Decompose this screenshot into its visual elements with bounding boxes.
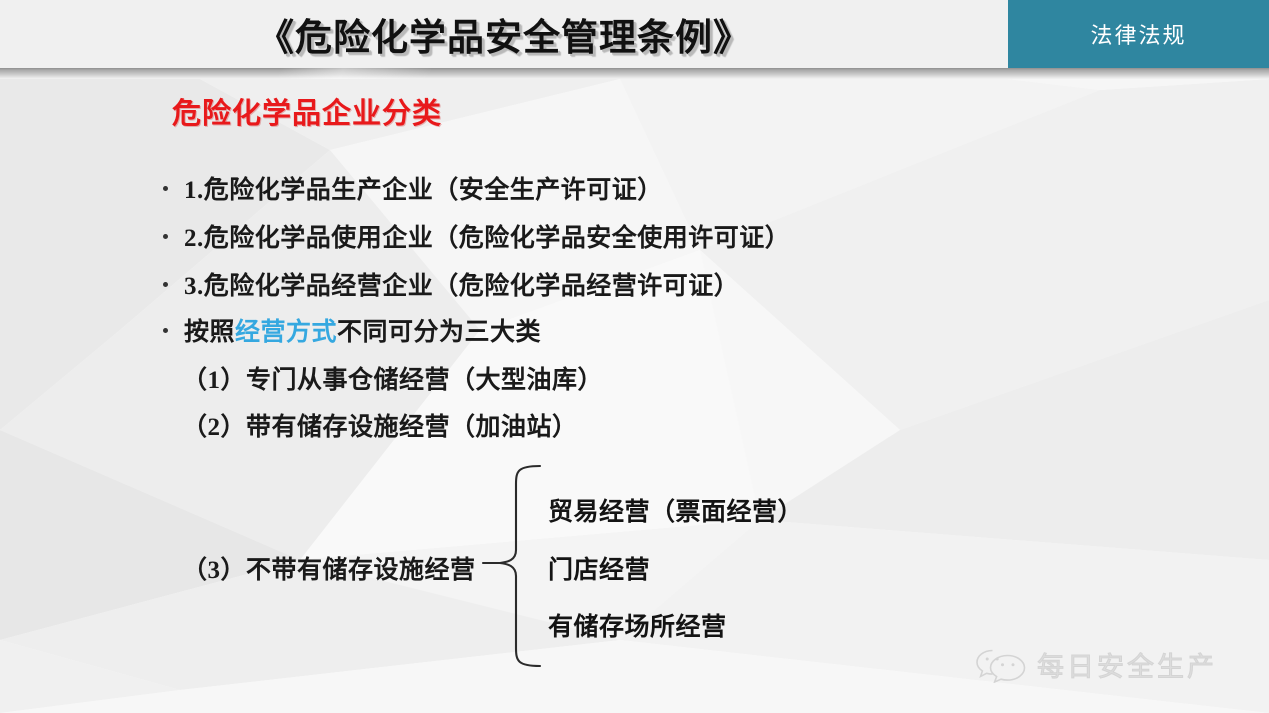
- list-item-label: 1.危险化学品生产企业（安全生产许可证）: [184, 170, 663, 206]
- page-title: 《危险化学品安全管理条例》: [0, 0, 1008, 68]
- section-heading: 危险化学品企业分类: [172, 90, 442, 132]
- category-badge: 法律法规: [1008, 0, 1269, 68]
- slide-canvas: 《危险化学品安全管理条例》 法律法规 危险化学品企业分类 1.危险化学品生产企业…: [0, 0, 1269, 713]
- header-shadow-highlight: [0, 68, 1269, 79]
- brace-group-label: （3）不带有储存设施经营: [182, 550, 476, 586]
- list-item: 2.危险化学品使用企业（危险化学品安全使用许可证）: [163, 218, 790, 254]
- list-item: 3.危险化学品经营企业（危险化学品经营许可证）: [163, 266, 739, 302]
- classification-accent: 经营方式: [235, 319, 337, 346]
- bullet-dot-icon: [163, 282, 168, 287]
- wechat-icon: [975, 647, 1027, 683]
- bullet-dot-icon: [163, 234, 168, 239]
- list-item-label: 3.危险化学品经营企业（危险化学品经营许可证）: [184, 266, 739, 302]
- header-bar: 《危险化学品安全管理条例》 法律法规: [0, 0, 1269, 68]
- classification-prefix: 按照: [184, 319, 235, 346]
- watermark: 每日安全生产: [975, 645, 1217, 684]
- bullet-dot-icon: [163, 186, 168, 191]
- classification-suffix: 不同可分为三大类: [337, 319, 541, 346]
- curly-brace-icon: [478, 462, 548, 672]
- list-item-classification: 按照经营方式不同可分为三大类: [163, 312, 541, 348]
- watermark-label: 每日安全生产: [1037, 645, 1217, 684]
- bullet-dot-icon: [163, 328, 168, 333]
- classification-sentence: 按照经营方式不同可分为三大类: [184, 312, 541, 348]
- brace-item: 有储存场所经营: [548, 607, 727, 643]
- sub-list-item: （2）带有储存设施经营（加油站）: [182, 407, 578, 443]
- list-item-label: 2.危险化学品使用企业（危险化学品安全使用许可证）: [184, 218, 790, 254]
- brace-item: 门店经营: [548, 550, 650, 586]
- sub-list-item: （1）专门从事仓储经营（大型油库）: [182, 360, 603, 396]
- brace-item: 贸易经营（票面经营）: [548, 492, 803, 528]
- list-item: 1.危险化学品生产企业（安全生产许可证）: [163, 170, 663, 206]
